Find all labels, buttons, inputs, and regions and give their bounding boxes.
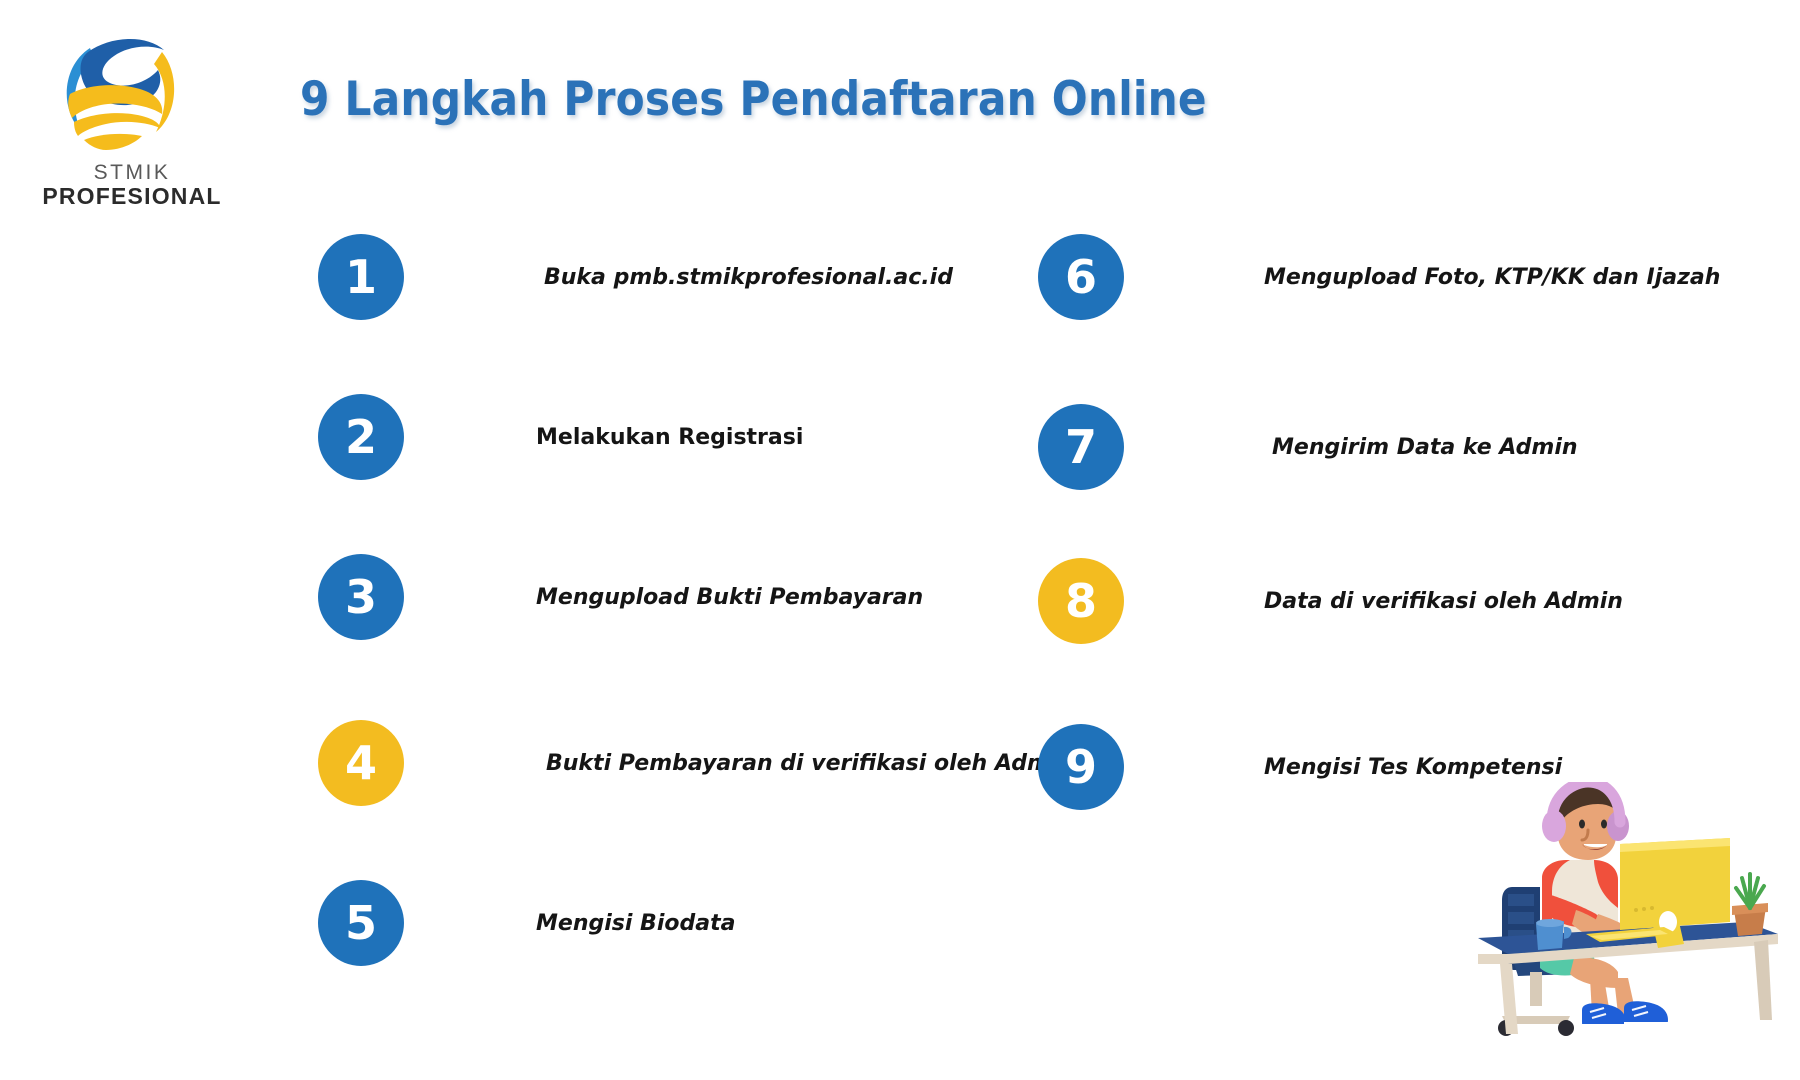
- step-item-4: 4 Bukti Pembayaran di verifikasi oleh Ad…: [318, 720, 1073, 806]
- step-number-badge-7: 7: [1038, 404, 1124, 490]
- step-item-3: 3 Mengupload Bukti Pembayaran: [318, 554, 923, 640]
- step-number-badge-8: 8: [1038, 558, 1124, 644]
- step-label-1: Buka pmb.stmikprofesional.ac.id: [544, 265, 953, 290]
- step-number-badge-9: 9: [1038, 724, 1124, 810]
- step-number-badge-2: 2: [318, 394, 404, 480]
- step-label-5: Mengisi Biodata: [536, 911, 735, 936]
- step-label-4: Bukti Pembayaran di verifikasi oleh Admi…: [546, 751, 1073, 776]
- stmik-swirl-logo-icon: [50, 22, 186, 158]
- step-number-badge-6: 6: [1038, 234, 1124, 320]
- step-item-8: 8 Data di verifikasi oleh Admin: [1038, 558, 1623, 644]
- step-label-7: Mengirim Data ke Admin: [1272, 435, 1578, 460]
- step-label-3: Mengupload Bukti Pembayaran: [536, 585, 923, 610]
- step-label-9: Mengisi Tes Kompetensi: [1264, 755, 1562, 780]
- step-item-7: 7 Mengirim Data ke Admin: [1038, 404, 1578, 490]
- brand-line-1: STMIK: [42, 162, 222, 183]
- brand-logo: STMIK PROFESIONAL: [42, 22, 222, 212]
- step-number-badge-1: 1: [318, 234, 404, 320]
- step-item-2: 2 Melakukan Registrasi: [318, 394, 803, 480]
- step-label-2: Melakukan Registrasi: [536, 425, 803, 450]
- step-number-badge-5: 5: [318, 880, 404, 966]
- brand-logo-text: STMIK PROFESIONAL: [42, 162, 222, 208]
- step-number-badge-4: 4: [318, 720, 404, 806]
- person-at-desk-with-computer-illustration: [1478, 782, 1788, 1042]
- step-label-8: Data di verifikasi oleh Admin: [1264, 589, 1623, 614]
- step-label-6: Mengupload Foto, KTP/KK dan Ijazah: [1264, 265, 1720, 290]
- step-item-6: 6 Mengupload Foto, KTP/KK dan Ijazah: [1038, 234, 1720, 320]
- step-item-1: 1 Buka pmb.stmikprofesional.ac.id: [318, 234, 953, 320]
- step-item-5: 5 Mengisi Biodata: [318, 880, 735, 966]
- page-title: 9 Langkah Proses Pendaftaran Online: [300, 72, 1207, 127]
- brand-line-2: PROFESIONAL: [42, 185, 222, 208]
- step-number-badge-3: 3: [318, 554, 404, 640]
